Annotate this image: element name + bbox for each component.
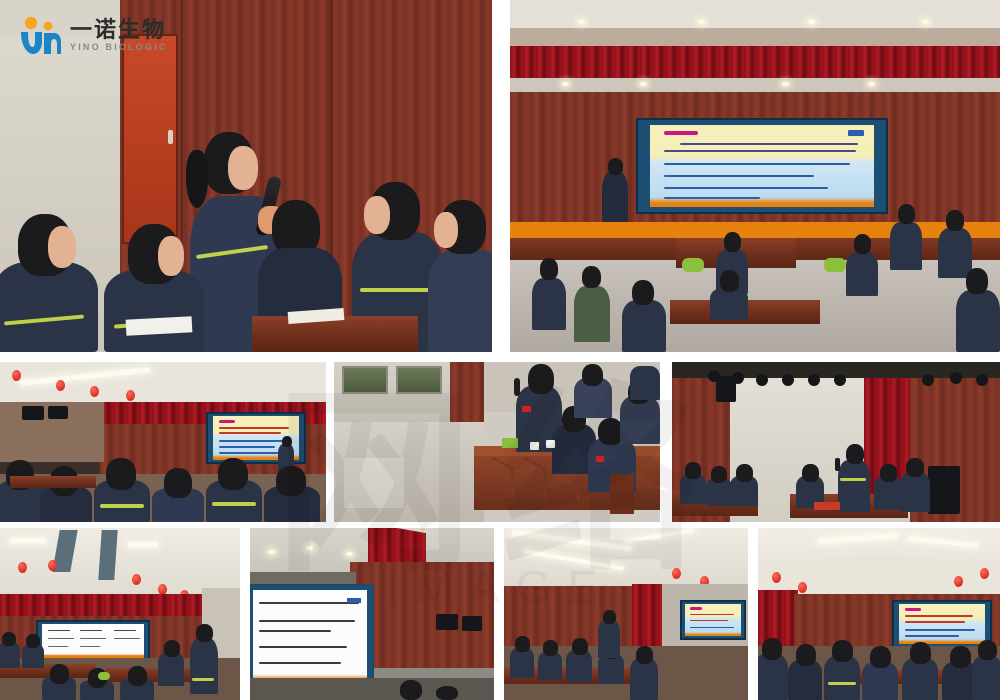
- floor-7: [250, 678, 494, 700]
- aud-head-6-5: [128, 666, 147, 686]
- valance-downlight-3: [782, 82, 789, 86]
- photo-hall-overview: [510, 0, 1000, 352]
- slide-line-1: [680, 143, 858, 145]
- pod-aud-head-4: [582, 364, 603, 386]
- seat-head-5-5: [880, 464, 897, 482]
- hall-attendee-head-5: [898, 204, 915, 224]
- slide-6-l1: [48, 630, 70, 632]
- slide-line-3-1: [219, 427, 289, 429]
- projection-screen: [636, 118, 888, 214]
- side-speaker-5: [716, 376, 736, 402]
- aud-head-9-1: [762, 638, 782, 660]
- aud-9-1: [758, 654, 788, 700]
- stage-light-8: [950, 372, 962, 384]
- lantern-8-1: [672, 568, 681, 579]
- aud-8-5: [630, 658, 658, 700]
- stage-light-6: [834, 374, 846, 386]
- logo-text-block: 一诺生物 YINO BIOLOGIC: [70, 18, 168, 55]
- seat-5-6: [900, 472, 930, 512]
- slide-9-l1: [905, 615, 973, 617]
- slide-6-l5: [80, 638, 106, 640]
- slide-line-2: [664, 150, 856, 152]
- photo-hall-with-lanterns: [0, 528, 240, 700]
- aud-head-7-1: [400, 680, 422, 700]
- slide-7-l3: [259, 630, 331, 632]
- slide-title-bar-3: [219, 420, 235, 423]
- wall-speaker-7: [436, 614, 458, 630]
- attendee-face-3: [364, 196, 390, 234]
- aud-head-3-4: [164, 468, 192, 498]
- presenter-body: [602, 172, 628, 228]
- slide-title-bar: [664, 131, 698, 135]
- aud-head-6-2: [26, 634, 40, 648]
- aud-9-3: [824, 656, 860, 700]
- aud-9-7: [972, 656, 1000, 700]
- slide-7-l4: [259, 646, 347, 648]
- slide-6-l4: [48, 638, 74, 640]
- slide-6-l3: [114, 630, 136, 632]
- slide-9-title: [905, 608, 921, 611]
- projection-screen-8: [680, 600, 746, 640]
- photo-attendees-and-screen: [758, 528, 1000, 700]
- slide-line-3: [664, 163, 850, 165]
- hall-attendee-7: [956, 290, 1000, 352]
- aud-head-8-5: [636, 646, 653, 664]
- aud-head-8-2: [543, 640, 558, 656]
- aud-stripe-3-5: [212, 502, 256, 506]
- slide-line-3-2: [219, 432, 281, 434]
- attendee-stripe-3: [360, 288, 432, 292]
- slide-line-3-3: [219, 440, 291, 442]
- logo-name-cn: 一诺生物: [70, 18, 168, 41]
- slide-8-l1: [690, 614, 734, 616]
- flower-arrangement-right: [824, 258, 846, 272]
- slide-content-7: [253, 590, 367, 686]
- aud-head-3-3: [106, 458, 136, 490]
- attendee-face-1: [48, 226, 76, 268]
- slide-9-l3: [905, 629, 975, 631]
- wall-speaker-3: [22, 406, 44, 420]
- scene-projection-slide: [250, 528, 494, 700]
- badge-red-4b: [596, 456, 604, 462]
- logo-name-en: YINO BIOLOGIC: [70, 41, 168, 55]
- ceiling-band: [510, 28, 1000, 46]
- slide-6-l6: [114, 638, 140, 640]
- valance-downlight-4: [868, 82, 875, 86]
- podium-microphone-icon: [514, 378, 520, 396]
- scene-audience-and-screen: [0, 362, 326, 522]
- slide-content-8: [685, 604, 741, 636]
- aud-head-9-7: [978, 640, 997, 660]
- hall-attendee-head-8: [632, 280, 654, 305]
- aud-head-3-5: [218, 458, 248, 490]
- lantern-6-2: [48, 560, 57, 571]
- aud-head-9-3: [832, 640, 853, 662]
- collage-page: 网络 IMAGE 一诺生物 YINO BIOLOGIC: [0, 0, 1000, 700]
- projection-screen-6: [36, 620, 150, 662]
- speaker-ponytail: [186, 150, 208, 208]
- standing-6: [190, 638, 218, 694]
- attendee-face-2: [158, 236, 184, 276]
- aud-head-9-4: [870, 646, 891, 668]
- valance-downlight-2: [640, 82, 647, 86]
- aud-stripe-3-3: [100, 504, 144, 508]
- slide-logo-icon: [848, 130, 864, 136]
- scene-podium-speaker: [334, 362, 660, 522]
- attendee-face-4: [434, 212, 458, 248]
- hall-attendee-head-2: [582, 266, 601, 288]
- hall-attendee-head-1: [540, 258, 558, 280]
- aud-head-8-3: [572, 638, 588, 655]
- floor-reflection-4: [344, 458, 404, 508]
- ceiling-downlight-4: [922, 20, 929, 24]
- lantern-9-3: [954, 576, 963, 587]
- hall-attendee-head-4: [854, 234, 871, 254]
- aud-8-2: [538, 652, 562, 680]
- slide-8-title: [690, 607, 702, 610]
- lantern-3-2: [56, 380, 65, 391]
- floor-speaker-5: [928, 466, 960, 514]
- lantern-9-4: [980, 568, 989, 579]
- aud-head-6-3: [50, 664, 69, 684]
- seat-head-5-6: [906, 458, 924, 477]
- projection-screen-7: [250, 584, 374, 692]
- hall-attendee-head-6: [946, 210, 964, 231]
- aud-head-8-1: [515, 636, 530, 652]
- slide-7-l2: [259, 620, 355, 622]
- seat-head-5-1: [685, 462, 701, 479]
- valance-trim: [510, 78, 1000, 92]
- company-logo: 一诺生物 YINO BIOLOGIC: [12, 12, 174, 60]
- aud-9-5: [902, 658, 938, 700]
- stage-light-7: [922, 374, 934, 386]
- hall-attendee-head-7: [966, 268, 988, 294]
- ceiling-downlight-2: [698, 20, 705, 24]
- slide-line-3-4: [219, 446, 275, 448]
- stripe-6: [192, 678, 214, 681]
- lantern-3-3: [90, 386, 99, 397]
- lantern-3-4: [126, 390, 135, 401]
- aud-head-6-6: [164, 640, 180, 657]
- photo-podium-speaker: [334, 362, 660, 522]
- hall-attendee-head-9: [720, 270, 739, 292]
- aud-head-7-2: [436, 686, 458, 700]
- desk-3: [10, 476, 96, 488]
- stripe-5: [840, 478, 866, 481]
- slide-7-logo-icon: [347, 598, 361, 603]
- stage-light-4: [782, 374, 794, 386]
- cup-1: [530, 442, 539, 450]
- ceiling-3: [0, 362, 326, 406]
- cup-2: [546, 440, 555, 448]
- stripe-9-3: [828, 682, 856, 685]
- valance-downlight-1: [562, 82, 569, 86]
- seat-head-5-3: [736, 464, 753, 482]
- stage-light-9: [976, 374, 988, 386]
- hall-attendee-6: [938, 228, 972, 278]
- slide-9-l2: [905, 621, 965, 623]
- podium-speaker-head: [528, 364, 554, 394]
- stage-platform: [510, 222, 1000, 238]
- seat-head-5-4: [802, 464, 819, 482]
- aud-head-9-5: [910, 642, 931, 664]
- speaker-face: [228, 146, 258, 190]
- slide-content-9: [899, 604, 985, 644]
- slide-line-6: [664, 197, 760, 199]
- slide-8-l2: [690, 620, 728, 622]
- slide-line-4: [664, 175, 814, 177]
- presenter-head-3: [282, 436, 292, 447]
- curtain-valance: [510, 46, 1000, 78]
- photo-hall-side-view: [504, 528, 748, 700]
- hall-attendee-5: [890, 222, 922, 270]
- standing-head-8: [603, 610, 616, 624]
- desk-front: [252, 316, 418, 352]
- dl-7-3: [346, 552, 353, 556]
- window-view-4: [342, 366, 388, 394]
- ceiling-downlight-3: [808, 20, 815, 24]
- badge-red-4: [522, 406, 531, 412]
- standing-speaker-5: [838, 460, 870, 512]
- aud-head-6-1: [2, 632, 16, 646]
- wall-speaker-7b: [462, 616, 482, 631]
- slide-content: [650, 125, 873, 208]
- aud-head-3-6: [276, 466, 306, 496]
- aud-8-1: [510, 648, 534, 678]
- scene-stage-curtain-seating: [672, 362, 1000, 522]
- hall-attendee-2: [574, 286, 610, 342]
- hall-attendee-8: [622, 300, 666, 352]
- slide-8-l3: [690, 627, 734, 629]
- scene-attendees-and-screen: [758, 528, 1000, 700]
- stage-light-5: [808, 374, 820, 386]
- photo-stage-curtain-seating: [672, 362, 1000, 522]
- curtain-6: [0, 594, 186, 618]
- slide-9-l4: [905, 635, 959, 637]
- hall-attendee-4: [846, 252, 878, 296]
- tissue-box: [502, 438, 518, 448]
- standing-head-6: [196, 624, 213, 642]
- aud-head-9-2: [796, 644, 816, 666]
- stage-light-3: [756, 374, 768, 386]
- hall-attendee-9: [710, 288, 748, 320]
- dl-7-2: [306, 546, 313, 550]
- lantern-6-1: [18, 562, 27, 573]
- wall-speaker-3b: [48, 406, 68, 419]
- lantern-3-1: [12, 370, 21, 381]
- presenter-head: [608, 158, 623, 175]
- scene-hall-overview: [510, 0, 1000, 352]
- lantern-6-3: [132, 574, 141, 585]
- plant-6: [98, 672, 110, 680]
- slide-line-3-5: [219, 452, 283, 454]
- window-view-4b: [396, 366, 442, 394]
- strip-6: [10, 538, 46, 543]
- ceiling-downlight-1: [578, 20, 585, 24]
- lantern-9-2: [798, 582, 807, 593]
- slide-7-l5: [259, 662, 341, 664]
- slide-6-l2: [80, 630, 102, 632]
- slide-line-5: [664, 187, 828, 189]
- flower-arrangement-left: [682, 258, 704, 272]
- slide-content-6: [42, 624, 143, 659]
- standing-8: [598, 620, 620, 658]
- slide-6-l8: [80, 646, 100, 648]
- slide-7-l1: [259, 602, 359, 604]
- scene-hall-side-view: [504, 528, 748, 700]
- standing-speaker-head-5: [846, 444, 864, 464]
- scene-hall-with-lanterns: [0, 528, 240, 700]
- seat-head-5-2: [711, 466, 727, 483]
- projection-screen-9: [892, 600, 992, 648]
- aud-9-2: [788, 660, 822, 700]
- mic-icon-5: [835, 458, 840, 471]
- chair-4: [610, 474, 634, 514]
- aud-head-9-6: [950, 646, 971, 668]
- aud-6-6: [158, 652, 184, 686]
- lantern-9-1: [772, 572, 781, 583]
- hall-attendee-1: [532, 278, 566, 330]
- attendee-body-4: [428, 250, 492, 352]
- door-handle-icon: [168, 130, 173, 144]
- strip-6b: [128, 542, 158, 547]
- photo-audience-and-screen: [0, 362, 326, 522]
- name-plate-5: [814, 502, 840, 510]
- photo-projection-slide: [250, 528, 494, 700]
- pod-aud-5: [630, 366, 660, 400]
- hall-attendee-head-3: [724, 232, 741, 252]
- slide-6-l7: [48, 646, 68, 648]
- dl-7-1: [268, 550, 275, 554]
- logo-mark-icon: [18, 16, 62, 56]
